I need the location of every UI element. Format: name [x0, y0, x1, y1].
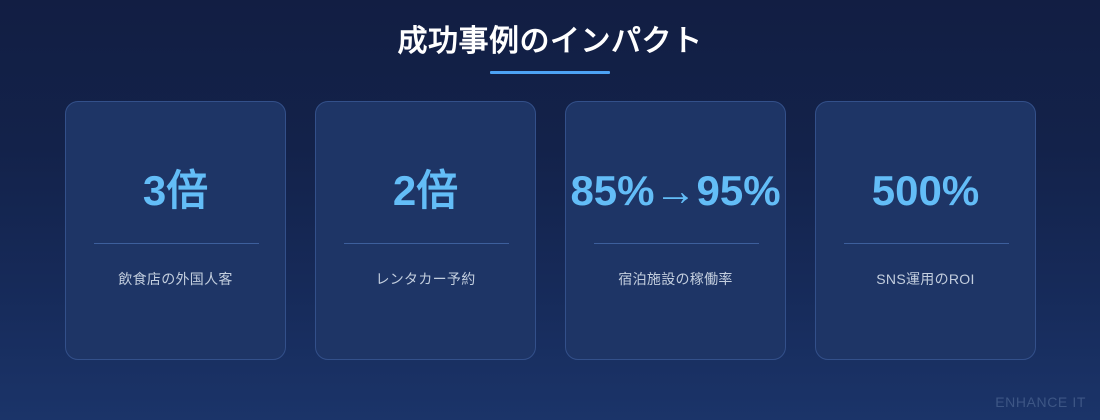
stat-card[interactable]: 85%→95% 宿泊施設の稼働率 — [565, 101, 786, 360]
page-title: 成功事例のインパクト — [0, 22, 1100, 62]
stat-value: 85%→95% — [546, 164, 805, 218]
stat-label: 飲食店の外国人客 — [74, 268, 277, 290]
stat-divider — [344, 243, 509, 244]
stat-divider — [844, 243, 1009, 244]
slide-root: 成功事例のインパクト 3倍 飲食店の外国人客 2倍 レンタカー予約 85%→95… — [0, 0, 1100, 420]
stat-label: レンタカー予約 — [324, 268, 527, 290]
stat-card[interactable]: 3倍 飲食店の外国人客 — [65, 101, 286, 360]
stat-value: 500% — [796, 164, 1055, 218]
title-underline-accent — [490, 71, 610, 74]
stat-card[interactable]: 500% SNS運用のROI — [815, 101, 1036, 360]
stat-card[interactable]: 2倍 レンタカー予約 — [315, 101, 536, 360]
stat-value: 2倍 — [296, 164, 555, 218]
stat-divider — [94, 243, 259, 244]
stat-label: SNS運用のROI — [824, 268, 1027, 290]
stat-label: 宿泊施設の稼働率 — [574, 268, 777, 290]
title-block: 成功事例のインパクト — [0, 22, 1100, 74]
stat-divider — [594, 243, 759, 244]
watermark-label: ENHANCE IT — [995, 394, 1086, 410]
stat-value: 3倍 — [46, 164, 305, 218]
stat-cards-row: 3倍 飲食店の外国人客 2倍 レンタカー予約 85%→95% 宿泊施設の稼働率 … — [65, 101, 1036, 360]
